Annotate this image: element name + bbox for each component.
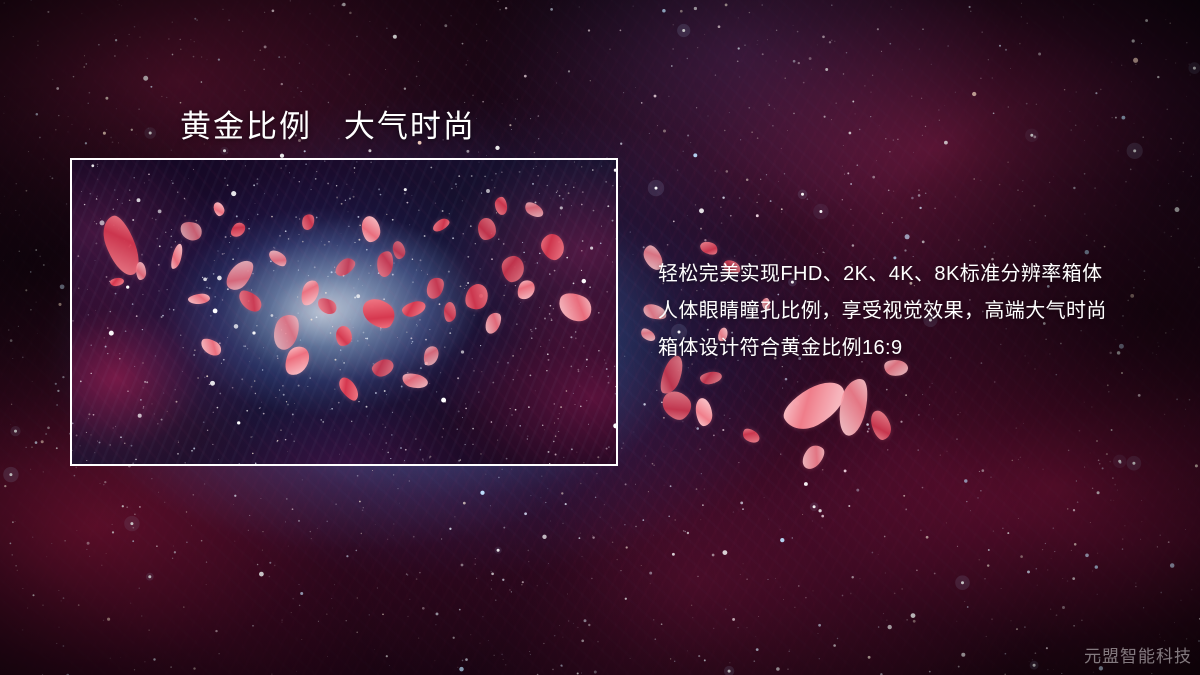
framed-image bbox=[70, 158, 618, 466]
framed-image-starfield bbox=[72, 160, 616, 464]
body-text-block: 轻松完美实现FHD、2K、4K、8K标准分辨率箱体 人体眼睛瞳孔比例，享受视觉效… bbox=[658, 256, 1178, 367]
watermark: 元盟智能科技 bbox=[1084, 642, 1192, 667]
page-title: 黄金比例 大气时尚 bbox=[180, 101, 476, 146]
body-line-2: 人体眼睛瞳孔比例，享受视觉效果，高端大气时尚 bbox=[658, 293, 1178, 330]
slide-canvas: 黄金比例 大气时尚 轻松完美实现FHD、2K、4K、8K标准分辨率箱体 人体眼睛… bbox=[0, 0, 1200, 675]
body-line-3: 箱体设计符合黄金比例16:9 bbox=[658, 330, 1178, 367]
body-line-1: 轻松完美实现FHD、2K、4K、8K标准分辨率箱体 bbox=[658, 256, 1178, 293]
